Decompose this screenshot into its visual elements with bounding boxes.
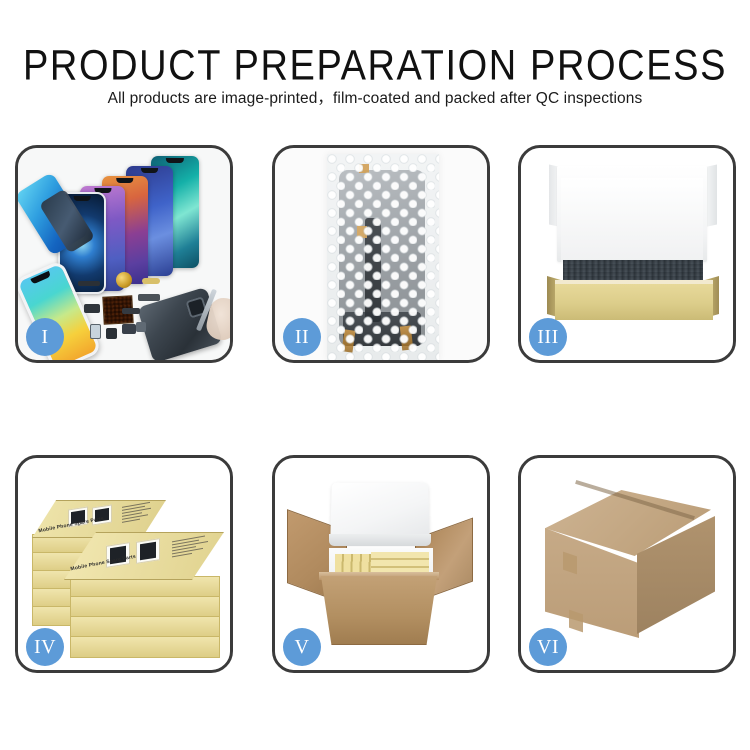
box-front-yellow [555, 284, 713, 320]
box-edge-fr-2 [70, 596, 220, 618]
part-flex-cable [142, 278, 160, 284]
foam-box-lid-edge [329, 534, 431, 546]
part-camera-module [84, 304, 100, 313]
box-label-photo-4 [136, 538, 160, 564]
part-bracket [122, 324, 136, 334]
part-sim-tray [90, 324, 101, 339]
part-strip [78, 281, 100, 286]
step-panel-3[interactable]: III [518, 145, 736, 363]
page-title: PRODUCT PREPARATION PROCESS [0, 45, 750, 88]
speaker-module [116, 272, 132, 288]
step-panel-1[interactable]: I [15, 145, 233, 363]
step-badge-1: I [26, 318, 64, 356]
step-panel-6[interactable]: VI [518, 455, 736, 673]
step-panel-2[interactable]: II [272, 145, 490, 363]
step-panel-4[interactable]: Mobile Phone Spare Parts Mobile Phone Sp… [15, 455, 233, 673]
carton-body [321, 576, 437, 645]
step-badge-3: III [529, 318, 567, 356]
box-edge-fr-3 [70, 616, 220, 638]
part-vibrator [136, 322, 146, 332]
step-panel-5[interactable]: V [272, 455, 490, 673]
foam-sheet [561, 178, 703, 262]
box-edge-fr-4 [70, 636, 220, 658]
bubble-wrap-bag [327, 154, 439, 360]
part-antenna [122, 308, 140, 314]
step-badge-5: V [283, 628, 321, 666]
part-connector [138, 294, 160, 301]
bubble-texture [327, 154, 439, 360]
part-chip [106, 328, 117, 339]
product-preparation-process-page: PRODUCT PREPARATION PROCESS All products… [0, 0, 750, 750]
step-badge-2: II [283, 318, 321, 356]
step-badge-6: VI [529, 628, 567, 666]
step-badge-4: IV [26, 628, 64, 666]
page-subtitle: All products are image-printed，film-coat… [0, 88, 750, 110]
